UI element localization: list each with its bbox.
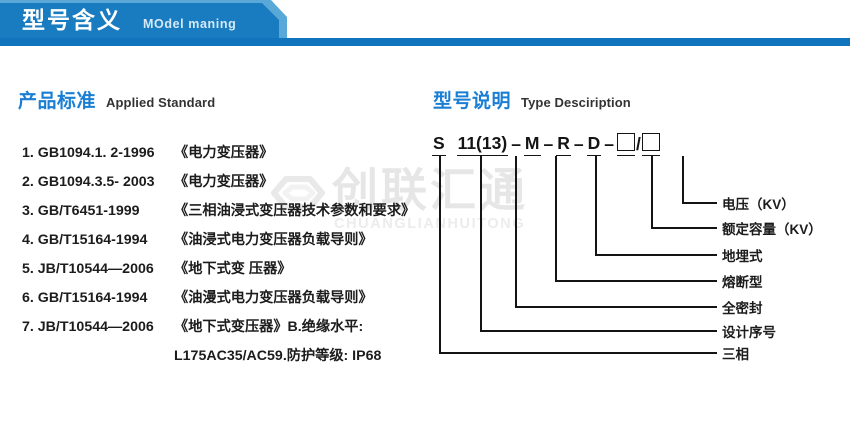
list-item: 1. GB1094.1. 2-1996 《电力变压器》 [22, 142, 432, 171]
model-token-voltage-box [642, 133, 660, 156]
model-spacer [446, 134, 457, 156]
model-token-s: S [432, 133, 446, 156]
standard-name: 《地下式变压器》B.绝缘水平: [174, 316, 432, 336]
standard-code-text: GB/T15164-1994 [38, 290, 148, 306]
standard-code: 2. GB1094.3.5- 2003 [22, 174, 174, 190]
applied-standard-heading-en: Applied Standard [106, 95, 215, 110]
label-three-phase: 三相 [722, 343, 749, 363]
label-voltage: 电压（KV） [722, 193, 795, 213]
standard-number: 7. [22, 319, 34, 335]
standard-name: 《电力变压器》 [174, 142, 432, 162]
standard-name: 《油浸式电力变压器负载导则》 [174, 229, 432, 249]
model-token-d: D [587, 133, 602, 156]
standard-code-text: GB1094.1. 2-1996 [38, 145, 155, 161]
header-underline-bar [0, 38, 850, 46]
type-description-section: 型号说明 Type Desciription [433, 86, 631, 113]
standard-code-text: JB/T10544—2006 [38, 319, 154, 335]
model-separator: – [508, 134, 524, 156]
standard-name: 《地下式变 压器》 [174, 258, 432, 278]
standard-number: 6. [22, 290, 34, 306]
standard-code-text: GB/T6451-1999 [38, 203, 140, 219]
standard-code: 4. GB/T15164-1994 [22, 232, 174, 248]
type-description-heading-cn: 型号说明 [433, 86, 511, 113]
empty-box-icon [617, 133, 635, 151]
standard-name: 《电力变压器》 [174, 171, 432, 191]
list-item: 3. GB/T6451-1999 《三相油浸式变压器技术参数和要求》 [22, 200, 432, 229]
header-title-cn: 型号含义 [22, 5, 122, 35]
model-token-m: M [524, 133, 541, 156]
standard-code: 3. GB/T6451-1999 [22, 203, 174, 219]
standard-code-text: GB/T15164-1994 [38, 232, 148, 248]
applied-standard-heading-cn: 产品标准 [18, 86, 96, 113]
leader-line-voltage [683, 156, 717, 203]
leader-line-fully-sealed [516, 156, 717, 307]
type-description-heading-en: Type Desciription [521, 95, 631, 110]
standard-code: 1. GB1094.1. 2-1996 [22, 145, 174, 161]
standard-name: 《油漫式电力变压器负载导则》 [174, 287, 432, 307]
standard-number: 3. [22, 203, 34, 219]
label-rated-capacity: 额定容量（KV） [722, 218, 822, 238]
list-item: 7. JB/T10544—2006 《地下式变压器》B.绝缘水平: [22, 316, 432, 345]
standard-number: 4. [22, 232, 34, 248]
model-separator: – [571, 134, 587, 156]
model-token-voltage-class: 11(13) [457, 133, 509, 156]
type-description-heading: 型号说明 Type Desciription [433, 86, 631, 113]
standard-code-text: JB/T10544—2006 [38, 261, 154, 277]
label-underground-type: 地埋式 [722, 245, 763, 265]
model-token-capacity-box [617, 133, 635, 156]
list-item: 6. GB/T15164-1994 《油漫式电力变压器负载导则》 [22, 287, 432, 316]
model-code: S 11(13) – M – R – D – / [432, 126, 660, 156]
standard-number: 5. [22, 261, 34, 277]
standard-code-text: GB1094.3.5- 2003 [38, 174, 155, 190]
standard-continuation-line: L175AC35/AC59.防护等级: IP68 [22, 345, 432, 374]
leader-line-underground [596, 156, 717, 255]
label-fully-sealed: 全密封 [722, 297, 763, 317]
list-item: 2. GB1094.3.5- 2003 《电力变压器》 [22, 171, 432, 200]
header-title-en: MOdel maning [143, 17, 236, 31]
standards-list: 1. GB1094.1. 2-1996 《电力变压器》 2. GB1094.3.… [22, 142, 432, 374]
model-slash: / [635, 134, 642, 156]
applied-standard-section: 产品标准 Applied Standard [18, 86, 215, 113]
empty-box-icon [642, 133, 660, 151]
label-design-serial: 设计序号 [722, 321, 776, 341]
model-separator: – [601, 134, 617, 156]
model-separator: – [541, 134, 557, 156]
standard-name: 《三相油浸式变压器技术参数和要求》 [174, 200, 432, 220]
leader-line-rated-capacity [652, 156, 717, 228]
standard-code: 5. JB/T10544—2006 [22, 261, 174, 277]
label-fuse-type: 熔断型 [722, 271, 763, 291]
leader-line-design-serial [481, 156, 717, 331]
list-item: 5. JB/T10544—2006 《地下式变 压器》 [22, 258, 432, 287]
leader-line-three-phase [440, 156, 717, 353]
page-header: 型号含义 MOdel maning [0, 0, 850, 50]
model-token-r: R [556, 133, 571, 156]
standard-code: 6. GB/T15164-1994 [22, 290, 174, 306]
list-item: 4. GB/T15164-1994 《油浸式电力变压器负载导则》 [22, 229, 432, 258]
standard-number: 1. [22, 145, 34, 161]
applied-standard-heading: 产品标准 Applied Standard [18, 86, 215, 113]
leader-line-fuse-type [556, 156, 717, 281]
standard-code: 7. JB/T10544—2006 [22, 319, 174, 335]
standard-number: 2. [22, 174, 34, 190]
